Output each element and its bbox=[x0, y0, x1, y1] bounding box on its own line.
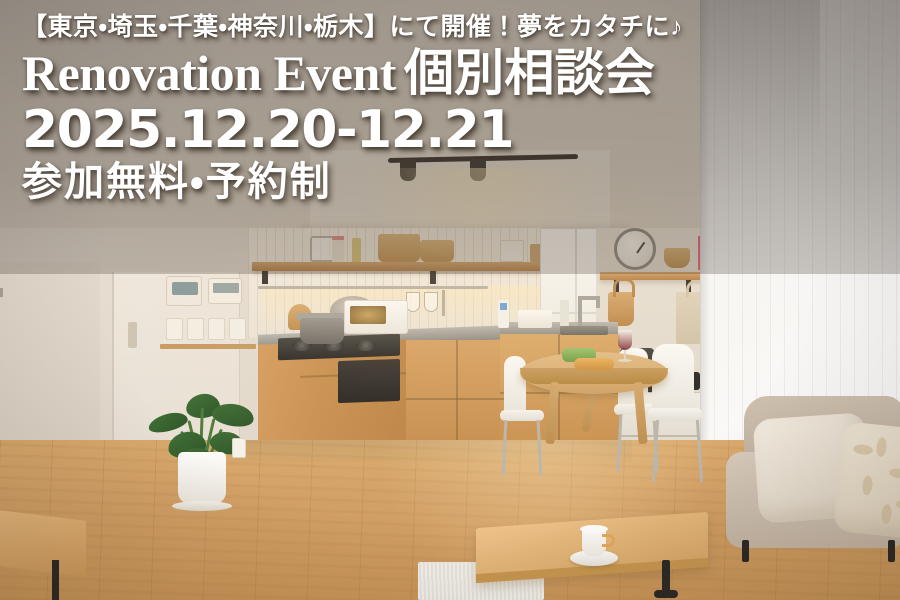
hanging-wine-glass bbox=[424, 292, 438, 312]
hanging-wine-glass bbox=[406, 292, 420, 312]
event-title-jp: 個別相談会 bbox=[404, 45, 655, 101]
water-bottle bbox=[560, 300, 569, 326]
toaster-oven bbox=[344, 300, 408, 334]
left-wall-panel bbox=[0, 262, 100, 442]
event-tagline: 【東京・埼玉・千葉・神奈川・栃木】にて開催！夢をカタチに♪ bbox=[22, 14, 900, 41]
wine-glass-base bbox=[618, 359, 632, 362]
bread-plate bbox=[574, 358, 614, 370]
coffee-table-foot bbox=[654, 590, 678, 598]
small-wall-shelf bbox=[160, 344, 256, 349]
event-note: 参加無料・予約制 bbox=[22, 160, 900, 205]
event-title-en: Renovation Event bbox=[22, 45, 396, 101]
cup-handle bbox=[602, 534, 615, 547]
tissue-box bbox=[518, 310, 552, 328]
coffee-table-leg bbox=[662, 560, 670, 594]
utensil-hook bbox=[0, 288, 3, 297]
kitchen-faucet bbox=[578, 296, 582, 326]
soap-dispenser bbox=[498, 300, 509, 328]
hanging-basket-bag bbox=[608, 292, 634, 326]
event-date-range: 2025.12.20-12.21 bbox=[22, 103, 900, 158]
floral-cushion bbox=[833, 421, 900, 541]
utensil-hanging-rail bbox=[258, 286, 488, 289]
renovation-event-banner: 【東京・埼玉・千葉・神奈川・栃木】にて開催！夢をカタチに♪ Renovation… bbox=[0, 0, 900, 600]
cooking-pot bbox=[300, 318, 344, 344]
door-handle bbox=[128, 322, 137, 348]
event-title: Renovation Event個別相談会 bbox=[22, 45, 900, 101]
power-outlet bbox=[232, 438, 246, 458]
built-in-oven bbox=[338, 359, 400, 403]
hanging-ladle bbox=[442, 290, 445, 316]
sofa-leg bbox=[888, 540, 895, 562]
intercom-panel bbox=[166, 276, 202, 306]
light-switch-panel bbox=[166, 318, 246, 340]
plant-pot bbox=[178, 452, 226, 504]
headline-copy-block: 【東京・埼玉・千葉・神奈川・栃木】にて開催！夢をカタチに♪ Renovation… bbox=[0, 0, 900, 274]
low-table-leg bbox=[52, 560, 59, 600]
thermostat-panel bbox=[208, 278, 242, 304]
kitchen-sink bbox=[560, 326, 608, 335]
sofa-leg bbox=[742, 540, 749, 562]
table-edge bbox=[520, 368, 668, 384]
wine-glass bbox=[618, 330, 632, 350]
